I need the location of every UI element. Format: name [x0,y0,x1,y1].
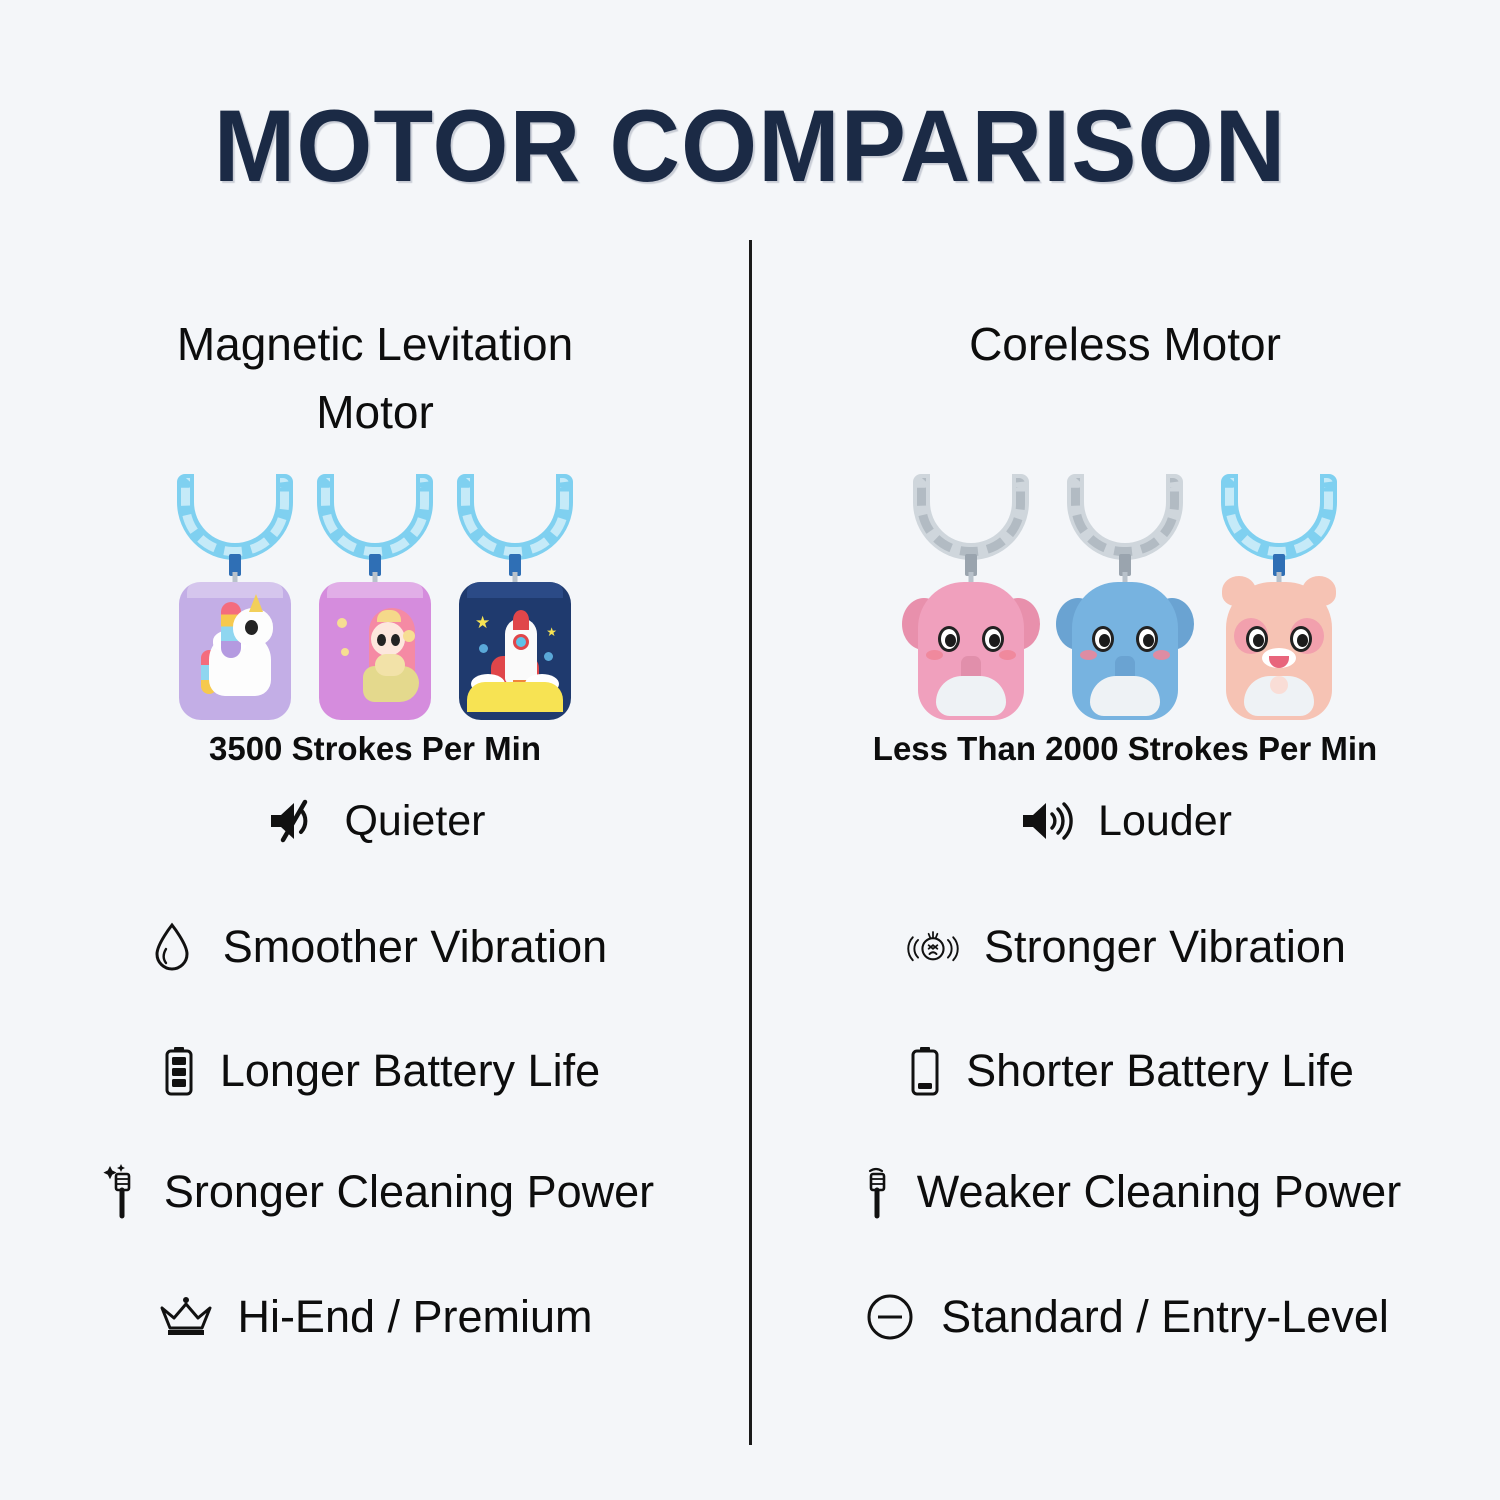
feature-cleaning-left: Sronger Cleaning Power [0,1163,750,1221]
feature-label: Quieter [344,797,485,846]
product-images-right [750,470,1500,720]
feature-noise-left: Quieter [0,792,750,850]
toothbrush-icon [849,1163,907,1221]
feature-label: Smoother Vibration [223,921,607,973]
peach-cat-toothbrush [1204,474,1354,720]
feature-cleaning-right: Weaker Cleaning Power [750,1163,1500,1221]
mermaid-toothbrush [311,474,439,720]
brush-head [1067,474,1183,560]
heading-line-1: Magnetic Levitation [0,310,750,378]
battery-full-icon [150,1042,208,1100]
heading-line-1: Coreless Motor [750,310,1500,378]
blue-elephant-toothbrush [1050,474,1200,720]
handle-body [179,582,291,720]
feature-noise-right: Louder [750,792,1500,850]
feature-tier-right: Standard / Entry-Level [750,1288,1500,1346]
product-images-left: ★ ★ [0,470,750,720]
column-heading-left: Magnetic Levitation Motor [0,310,750,446]
unicorn-decal [187,596,283,712]
brush-head [457,474,573,560]
feature-label: Longer Battery Life [220,1045,600,1097]
brush-head [1221,474,1337,560]
pink-elephant-toothbrush [896,474,1046,720]
strokes-per-min-right: Less Than 2000 Strokes Per Min [750,730,1500,768]
feature-vibration-left: Smoother Vibration [0,918,750,976]
elephant-body [1058,574,1192,720]
brush-head [177,474,293,560]
speaker-loud-icon [1018,792,1076,850]
feature-battery-right: Shorter Battery Life [750,1042,1500,1100]
feature-label: Louder [1098,797,1232,846]
speaker-muted-icon [264,792,322,850]
motor-comparison-infographic: MOTOR COMPARISON Magnetic Levitation Mot… [0,0,1500,1500]
feature-vibration-right: Stronger Vibration [750,918,1500,976]
elephant-body [904,574,1038,720]
column-magnetic-levitation: Magnetic Levitation Motor [0,0,750,1500]
rocket-toothbrush: ★ ★ [451,474,579,720]
mermaid-decal [327,596,423,712]
handle-body: ★ ★ [459,582,571,720]
feature-label: Standard / Entry-Level [941,1291,1389,1343]
crown-icon [157,1288,215,1346]
shaking-face-icon [904,918,962,976]
feature-battery-left: Longer Battery Life [0,1042,750,1100]
brush-head [317,474,433,560]
feature-label: Weaker Cleaning Power [917,1166,1401,1218]
water-droplet-icon [143,918,201,976]
minus-circle-icon [861,1288,919,1346]
toothbrush-sparkle-icon [96,1163,154,1221]
feature-label: Shorter Battery Life [966,1045,1354,1097]
cat-body [1212,574,1346,720]
heading-line-2: Motor [0,378,750,446]
rocket-decal: ★ ★ [467,596,563,712]
feature-label: Stronger Vibration [984,921,1346,973]
column-coreless: Coreless Motor [750,0,1500,1500]
feature-tier-left: Hi-End / Premium [0,1288,750,1346]
handle-body [319,582,431,720]
feature-label: Sronger Cleaning Power [164,1166,654,1218]
battery-empty-icon [896,1042,954,1100]
feature-label: Hi-End / Premium [237,1291,592,1343]
strokes-per-min-left: 3500 Strokes Per Min [0,730,750,768]
brush-head [913,474,1029,560]
column-heading-right: Coreless Motor [750,310,1500,378]
unicorn-toothbrush [171,474,299,720]
